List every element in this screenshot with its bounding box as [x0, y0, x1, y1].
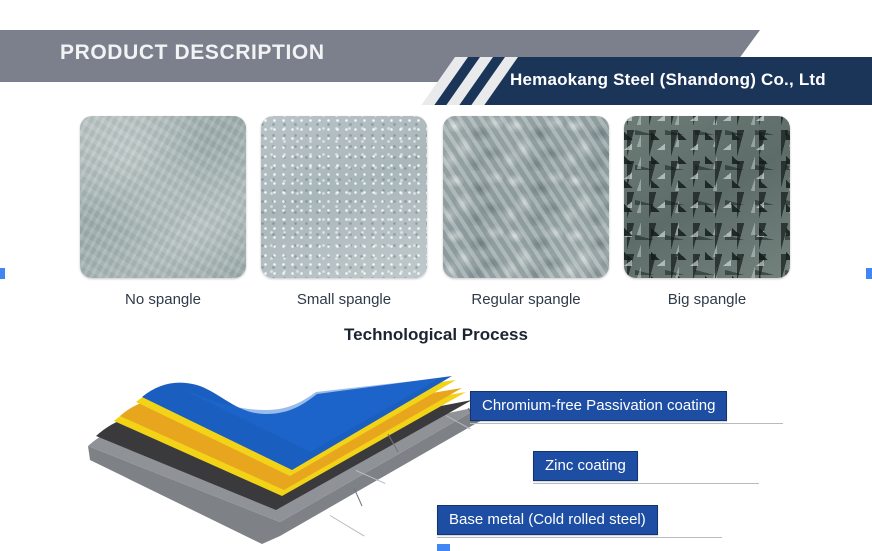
callout-zinc: Zinc coating — [533, 451, 638, 481]
swatch-texture — [80, 116, 246, 278]
page-title: PRODUCT DESCRIPTION — [60, 41, 325, 65]
header-banner: PRODUCT DESCRIPTION Hemaokang Steel (Sha… — [0, 0, 872, 110]
swatch-label-no-spangle: No spangle — [80, 291, 246, 308]
swatch-big-spangle — [624, 116, 790, 278]
callout-leader-line — [470, 423, 783, 424]
section-title-technological-process: Technological Process — [0, 325, 872, 345]
callout-leader-line — [533, 483, 759, 484]
swatch-texture — [624, 116, 790, 278]
swatch-label-small-spangle: Small spangle — [261, 291, 427, 308]
company-name: Hemaokang Steel (Shandong) Co., Ltd — [510, 70, 826, 90]
swatch-texture — [261, 116, 427, 278]
product-description-slide: PRODUCT DESCRIPTION Hemaokang Steel (Sha… — [0, 0, 872, 551]
coating-layer-diagram — [70, 348, 490, 548]
callout-base-metal: Base metal (Cold rolled steel) — [437, 505, 658, 535]
swatch-texture — [443, 116, 609, 278]
selection-handle-bottom[interactable] — [437, 544, 450, 551]
swatch-label-regular-spangle: Regular spangle — [443, 291, 609, 308]
callout-passivation: Chromium-free Passivation coating — [470, 391, 727, 421]
callout-leader-line — [437, 537, 722, 538]
selection-handle-right[interactable] — [866, 268, 872, 279]
swatch-no-spangle — [80, 116, 246, 278]
swatch-label-big-spangle: Big spangle — [624, 291, 790, 308]
swatch-regular-spangle — [443, 116, 609, 278]
swatch-small-spangle — [261, 116, 427, 278]
selection-handle-left[interactable] — [0, 268, 5, 279]
